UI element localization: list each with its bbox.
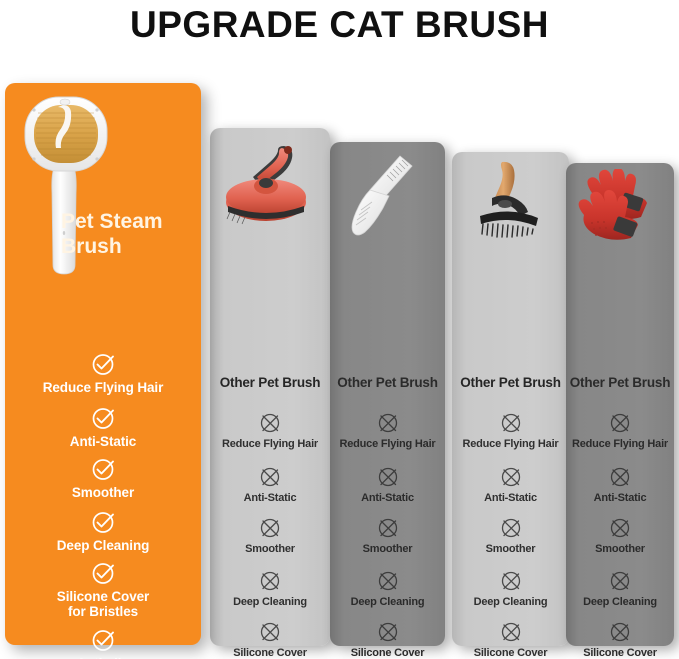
feature-label: Deep Cleaning xyxy=(452,596,569,609)
feature-label: Deep Cleaning xyxy=(210,596,330,609)
feature-row-silicone-cover: Silicone Cover for Bristles xyxy=(5,560,201,619)
feature-row-deep-cleaning: Deep Cleaning xyxy=(452,569,569,609)
feature-row-anti-static: Anti-Static xyxy=(452,465,569,505)
feature-row-deep-cleaning: Deep Cleaning xyxy=(210,569,330,609)
feature-label: Anti-Static xyxy=(210,492,330,505)
cross-circle-icon xyxy=(499,465,523,489)
feature-label: Smoother xyxy=(452,543,569,556)
feature-row-anti-static: Anti-Static xyxy=(566,465,674,505)
cross-circle-icon xyxy=(499,516,523,540)
check-circle-icon xyxy=(90,509,116,535)
feature-label: Deep Cleaning xyxy=(330,596,445,609)
feature-row-silicone-cover: Silicone Cover for Bristles xyxy=(210,620,330,659)
cross-circle-icon xyxy=(258,465,282,489)
feature-label: Smoother xyxy=(210,543,330,556)
cross-circle-icon xyxy=(608,516,632,540)
page-title: UPGRADE CAT BRUSH xyxy=(0,0,679,46)
feature-row-silicone-cover: Silicone Cover for Bristles xyxy=(452,620,569,659)
column-heading: Other Pet Brush xyxy=(566,375,674,390)
column-other-pet-brush-4[interactable]: Other Pet Brush Reduce Flying Hair Anti-… xyxy=(566,163,674,646)
column-other-pet-brush-2[interactable]: Other Pet Brush Reduce Flying Hair Anti-… xyxy=(330,142,445,646)
feature-row-anti-static: Anti-Static xyxy=(5,405,201,449)
hero-heading-text: Pet Steam Brush xyxy=(61,210,163,258)
feature-row-deep-cleaning: Deep Cleaning xyxy=(566,569,674,609)
feature-row-smoother: Smoother xyxy=(210,516,330,556)
column-heading: Other Pet Brush xyxy=(210,375,330,390)
cross-circle-icon xyxy=(608,465,632,489)
feature-label: Deep Cleaning xyxy=(5,538,201,553)
feature-label: Smoother xyxy=(566,543,674,556)
column-other-pet-brush-3[interactable]: Other Pet Brush Reduce Flying Hair Anti-… xyxy=(452,152,569,646)
cross-circle-icon xyxy=(608,569,632,593)
feature-label: Reduce Flying Hair xyxy=(5,380,201,395)
column-pet-steam-brush[interactable]: Pet Steam Brush Reduce Flying Hair Anti-… xyxy=(5,83,201,645)
check-circle-icon xyxy=(90,405,116,431)
feature-label: Silicone Cover xyxy=(330,647,445,659)
feature-row-smoother: Smoother xyxy=(5,456,201,500)
check-circle-icon xyxy=(90,456,116,482)
dematting-rake-icon xyxy=(452,158,569,253)
cross-circle-icon xyxy=(608,411,632,435)
cross-circle-icon xyxy=(499,620,523,644)
feature-row-reduce-flying-hair: Reduce Flying Hair xyxy=(5,351,201,395)
feature-label: Silicone Cover xyxy=(5,589,201,604)
feature-label: Silicone Cover xyxy=(566,647,674,659)
cross-circle-icon xyxy=(499,569,523,593)
feature-row-reduce-flying-hair: Reduce Flying Hair xyxy=(330,411,445,451)
column-heading: Other Pet Brush xyxy=(330,375,445,390)
cross-circle-icon xyxy=(376,620,400,644)
cross-circle-icon xyxy=(376,411,400,435)
feature-label: Smoother xyxy=(330,543,445,556)
column-other-pet-brush-1[interactable]: Other Pet Brush Reduce Flying Hair Anti-… xyxy=(210,128,330,646)
feature-label: Anti-Static xyxy=(5,434,201,449)
hero-heading: Pet Steam Brush xyxy=(61,209,189,259)
feature-label: Anti-Static xyxy=(566,492,674,505)
feature-row-reduce-flying-hair: Reduce Flying Hair xyxy=(566,411,674,451)
white-flea-comb-icon xyxy=(330,150,445,250)
column-heading: Other Pet Brush xyxy=(452,375,569,390)
feature-label: Reduce Flying Hair xyxy=(566,438,674,451)
feature-label-line2: for Bristles xyxy=(5,604,201,619)
feature-row-reduce-flying-hair: Reduce Flying Hair xyxy=(210,411,330,451)
feature-label: Silicone Cover xyxy=(210,647,330,659)
feature-row-deep-cleaning: Deep Cleaning xyxy=(330,569,445,609)
feature-label: Reduce Flying Hair xyxy=(452,438,569,451)
feature-row-smoother: Smoother xyxy=(566,516,674,556)
feature-row-deep-cleaning: Deep Cleaning xyxy=(5,509,201,553)
feature-label: Smoother xyxy=(5,485,201,500)
feature-row-silicone-cover: Silicone Cover for Bristles xyxy=(566,620,674,659)
feature-label: Deep Cleaning xyxy=(566,596,674,609)
feature-label: Reduce Flying Hair xyxy=(210,438,330,451)
feature-label: Silicone Cover xyxy=(452,647,569,659)
feature-label: Anti-Static xyxy=(330,492,445,505)
cross-circle-icon xyxy=(258,569,282,593)
feature-row-smoother: Smoother xyxy=(330,516,445,556)
feature-row-reduce-flying-hair: Reduce Flying Hair xyxy=(452,411,569,451)
check-circle-icon xyxy=(90,560,116,586)
cross-circle-icon xyxy=(499,411,523,435)
feature-row-anti-slip: Anti-slip Texture Design xyxy=(5,627,201,659)
feature-row-anti-static: Anti-Static xyxy=(330,465,445,505)
check-circle-icon xyxy=(90,627,116,653)
cross-circle-icon xyxy=(258,620,282,644)
feature-label: Anti-Static xyxy=(452,492,569,505)
red-slicker-brush-icon xyxy=(210,134,330,244)
cross-circle-icon xyxy=(608,620,632,644)
cross-circle-icon xyxy=(376,516,400,540)
feature-row-silicone-cover: Silicone Cover for Bristles xyxy=(330,620,445,659)
check-circle-icon xyxy=(90,351,116,377)
cross-circle-icon xyxy=(376,465,400,489)
cross-circle-icon xyxy=(258,516,282,540)
feature-row-anti-static: Anti-Static xyxy=(210,465,330,505)
red-grooming-gloves-icon xyxy=(566,169,674,259)
comparison-chart: UPGRADE CAT BRUSH xyxy=(0,0,679,659)
cross-circle-icon xyxy=(376,569,400,593)
feature-label: Reduce Flying Hair xyxy=(330,438,445,451)
cross-circle-icon xyxy=(258,411,282,435)
feature-row-smoother: Smoother xyxy=(452,516,569,556)
